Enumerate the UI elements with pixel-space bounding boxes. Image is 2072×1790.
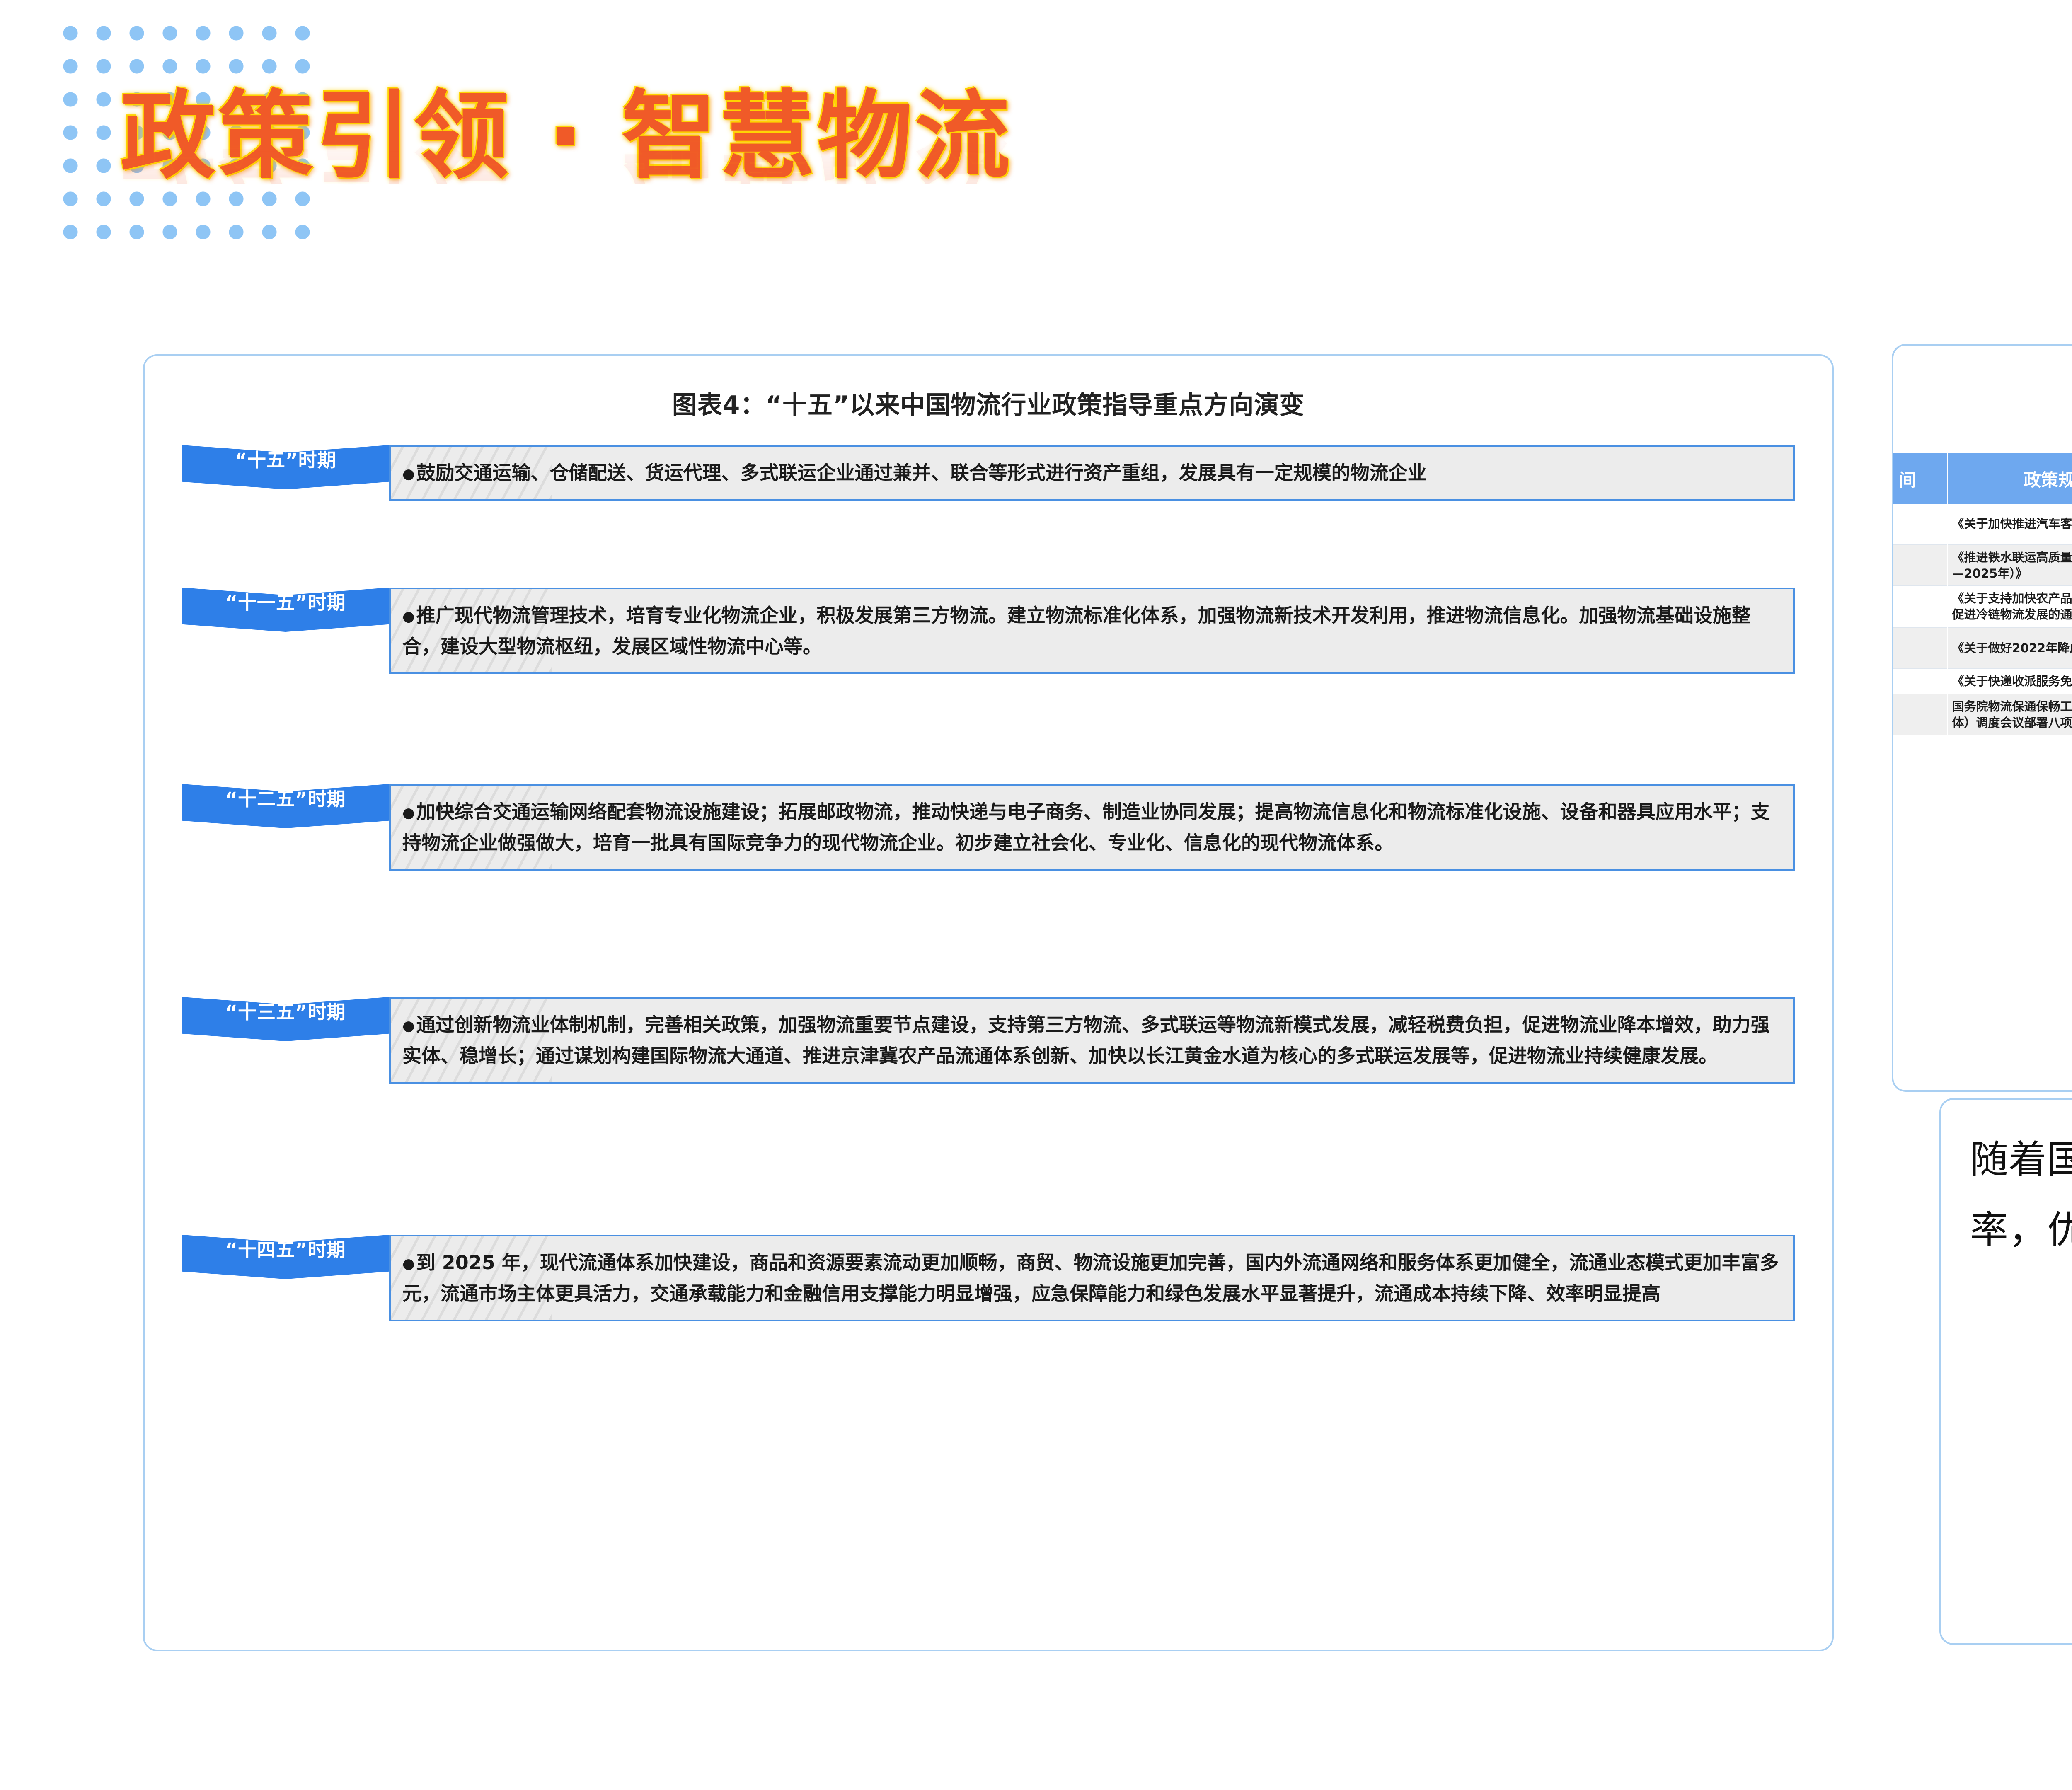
col-header-name[interactable]: 政策规划名称 (1947, 453, 2072, 504)
summary-card: 随着国家政策的持续支持，物流行业正加速升级转型，提升效率，优化服务，迈向智能化、… (1939, 1098, 2072, 1645)
period-content-text: ●通过创新物流业体制机制，完善相关政策，加强物流重要节点建设，支持第三方物流、多… (391, 999, 1793, 1082)
timeline-row: “十二五”时期 ●加快综合交通运输网络配套物流设施建设；拓展邮政物流，推动快递与… (182, 784, 1795, 979)
policy-timeline: “十五”时期 ●鼓励交通运输、仓储配送、货运代理、多式联运企业通过兼并、联合等形… (182, 445, 1795, 1621)
period-content-text: ●到 2025 年，现代流通体系加快建设，商品和资源要素流动更加顺畅，商贸、物流… (391, 1236, 1793, 1320)
cell-time (1892, 694, 1947, 735)
cell-time (1892, 669, 1947, 694)
cell-policy-name: 《关于快递收派服务免征增值税政策的公告》 (1947, 669, 2072, 694)
slide-headline-group: 政策引领 · 智慧物流 政策引领 · 智慧物流 (120, 89, 1013, 280)
cell-policy-name: 《关于做好2022年降成本重点工作的通知》 (1947, 627, 2072, 669)
period-content-value: 到 2025 年，现代流通体系加快建设，商品和资源要素流动更加顺畅，商贸、物流设… (402, 1251, 1779, 1305)
timeline-row: “十四五”时期 ●到 2025 年，现代流通体系加快建设，商品和资源要素流动更加… (182, 1235, 1795, 1467)
period-label: “十三五”时期 (225, 997, 346, 1041)
timeline-row: “十三五”时期 ●通过创新物流业体制机制，完善相关政策，加强物流重要节点建设，支… (182, 997, 1795, 1217)
bullet-icon: ● (402, 805, 415, 821)
period-label: “十五”时期 (235, 445, 336, 489)
summary-paragraph: 随着国家政策的持续支持，物流行业正加速升级转型，提升效率，优化服务，迈向智能化、… (1970, 1125, 2072, 1265)
period-content-box: ●到 2025 年，现代流通体系加快建设，商品和资源要素流动更加顺畅，商贸、物流… (389, 1235, 1795, 1321)
bullet-icon: ● (402, 1018, 415, 1034)
cell-policy-name: 《关于支持加快农产品供应链体系建设进一步促进冷链物流发展的通知》 (1947, 586, 2072, 627)
chart5-title: 图表5：截至2023年中国物流行业主要政策规划汇总及解读(一) (1893, 369, 2072, 398)
page-title-reflection: 政策引领 · 智慧物流 (120, 89, 1013, 184)
period-content-box: ●加快综合交通运输网络配套物流设施建设；拓展邮政物流，推动快递与电子商务、制造业… (389, 784, 1795, 871)
bullet-icon: ● (402, 466, 415, 482)
period-label: “十一五”时期 (225, 588, 346, 632)
period-content-text: ●加快综合交通运输网络配套物流设施建设；拓展邮政物流，推动快递与电子商务、制造业… (391, 786, 1793, 869)
table-row[interactable]: 《推进铁水联运高质量发展行动方案（2023—2025年）》 进一步发挥水路、铁路… (1892, 545, 2072, 586)
period-chevron[interactable]: “十三五”时期 (182, 997, 389, 1041)
period-content-box: ●通过创新物流业体制机制，完善相关政策，加强物流重要节点建设，支持第三方物流、多… (389, 997, 1795, 1084)
policy-table: 间 政策规划名称 具体内容 《关于加快推进汽车客运站转型发展的通知》 各地交通运… (1892, 453, 2072, 735)
period-content-box: ●鼓励交通运输、仓储配送、货运代理、多式联运企业通过兼并、联合等形式进行资产重组… (389, 445, 1795, 501)
policy-summary-table-card: 图表5：截至2023年中国物流行业主要政策规划汇总及解读(一) 间 政策规划名称… (1892, 344, 2072, 1092)
period-content-box: ●推广现代物流管理技术，培育专业化物流企业，积极发展第三方物流。建立物流标准化体… (389, 588, 1795, 674)
period-chevron[interactable]: “十四五”时期 (182, 1235, 389, 1279)
col-header-time[interactable]: 间 (1892, 453, 1947, 504)
period-chevron[interactable]: “十二五”时期 (182, 784, 389, 828)
period-content-value: 加快综合交通运输网络配套物流设施建设；拓展邮政物流，推动快递与电子商务、制造业协… (402, 801, 1770, 854)
period-content-value: 通过创新物流业体制机制，完善相关政策，加强物流重要节点建设，支持第三方物流、多式… (402, 1014, 1770, 1067)
cell-time (1892, 627, 1947, 669)
table-row[interactable]: 国务院物流保通保畅工作领导小组总指挥（全体）调度会议部署八项重要举措 聚焦重点物… (1892, 694, 2072, 735)
period-chevron[interactable]: “十一五”时期 (182, 588, 389, 632)
policy-evolution-card: 图表4：“十五”以来中国物流行业政策指导重点方向演变 “十五”时期 ●鼓励交通运… (143, 354, 1834, 1651)
table-row[interactable]: 《关于快递收派服务免征增值税政策的公告》 自2022年5月1日至2022年12月… (1892, 669, 2072, 694)
table-row[interactable]: 《关于做好2022年降成本重点工作的通知》 实施新的组合式税费支持政策、加强金融… (1892, 627, 2072, 669)
bullet-icon: ● (402, 608, 415, 625)
policy-table-scroll[interactable]: 间 政策规划名称 具体内容 《关于加快推进汽车客运站转型发展的通知》 各地交通运… (1892, 453, 2072, 1075)
period-content-value: 鼓励交通运输、仓储配送、货运代理、多式联运企业通过兼并、联合等形式进行资产重组，… (416, 462, 1427, 484)
table-header-row: 间 政策规划名称 具体内容 (1892, 453, 2072, 504)
chart4-title: 图表4：“十五”以来中国物流行业政策指导重点方向演变 (145, 385, 1832, 421)
cell-time (1892, 504, 1947, 545)
cell-policy-name: 《推进铁水联运高质量发展行动方案（2023—2025年）》 (1947, 545, 2072, 586)
period-content-value: 推广现代物流管理技术，培育专业化物流企业，积极发展第三方物流。建立物流标准化体系… (402, 604, 1751, 658)
table-row[interactable]: 《关于支持加快农产品供应链体系建设进一步促进冷链物流发展的通知》 有关省可根据本… (1892, 586, 2072, 627)
timeline-row: “十五”时期 ●鼓励交通运输、仓储配送、货运代理、多式联运企业通过兼并、联合等形… (182, 445, 1795, 569)
bullet-icon: ● (402, 1255, 415, 1272)
cell-time (1892, 586, 1947, 627)
summary-part-1: 随着国家政策的持续支持，物流行业正加速升级转型，提升效率，优化服务，迈向 (1970, 1137, 2072, 1252)
cell-time (1892, 545, 1947, 586)
period-label: “十二五”时期 (225, 784, 346, 828)
period-label: “十四五”时期 (225, 1235, 346, 1279)
cell-policy-name: 《关于加快推进汽车客运站转型发展的通知》 (1947, 504, 2072, 545)
timeline-row: “十一五”时期 ●推广现代物流管理技术，培育专业化物流企业，积极发展第三方物流。… (182, 588, 1795, 766)
period-content-text: ●推广现代物流管理技术，培育专业化物流企业，积极发展第三方物流。建立物流标准化体… (391, 589, 1793, 672)
cell-policy-name: 国务院物流保通保畅工作领导小组总指挥（全体）调度会议部署八项重要举措 (1947, 694, 2072, 735)
period-chevron[interactable]: “十五”时期 (182, 445, 389, 489)
table-row[interactable]: 《关于加快推进汽车客运站转型发展的通知》 各地交通运输、商务、邮政部门要支持客运… (1892, 504, 2072, 545)
period-content-text: ●鼓励交通运输、仓储配送、货运代理、多式联运企业通过兼并、联合等形式进行资产重组… (391, 447, 1441, 499)
